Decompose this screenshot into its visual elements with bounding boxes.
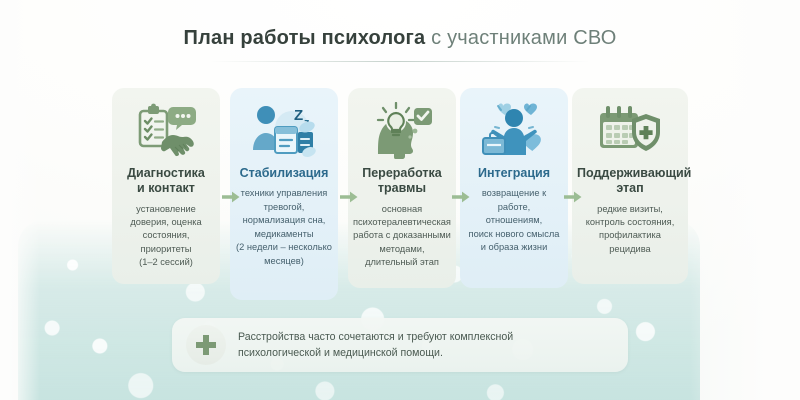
stage-card-title: Интеграция — [465, 166, 563, 181]
clipboard-checklist-handshake-icon — [117, 100, 215, 162]
head-lightbulb-check-icon — [353, 100, 451, 162]
stage-card-body: техники управления тревогой, нормализаци… — [235, 187, 333, 268]
stage-cards-row: Диагностика и контакт установление довер… — [112, 88, 700, 300]
person-hearts-briefcase-icon — [465, 100, 563, 162]
calendar-shield-cross-icon — [577, 100, 683, 162]
stage-card-body: редкие визиты, контроль состояния, профи… — [577, 203, 683, 257]
stage-card-body: основная психотералевтическая работа с д… — [353, 203, 451, 270]
stage-card-stabilizatsiya[interactable]: Z z Стабилизация — [230, 88, 338, 300]
arrow-right-icon — [564, 190, 582, 204]
stage-card-body: установление доверия, оценка состояния, … — [117, 203, 215, 270]
medical-cross-icon — [186, 325, 226, 365]
footer-note-text: Расстройства часто сочетаются и требуют … — [238, 329, 513, 362]
page-title-light: с участниками СВО — [431, 27, 616, 49]
stage-card-pererabotka-travmy[interactable]: Переработка травмы основная психотералев… — [348, 88, 456, 288]
stage-card-podderzhivayushchiy-etap[interactable]: Поддерживающий этап редкие визиты, контр… — [572, 88, 688, 284]
page-title: План работы психолога с участниками СВО — [0, 27, 800, 62]
arrow-right-icon — [452, 190, 470, 204]
arrow-right-icon — [340, 190, 358, 204]
stage-card-title: Поддерживающий этап — [577, 166, 683, 197]
stage-card-body: возвращение к работе, отношениям, поиск … — [465, 187, 563, 254]
svg-text:Z: Z — [294, 107, 303, 124]
stage-card-title: Стабилизация — [235, 166, 333, 181]
footer-note-banner: Расстройства часто сочетаются и требуют … — [172, 318, 628, 372]
arrow-right-icon — [222, 190, 240, 204]
stage-card-title: Переработка травмы — [353, 166, 451, 197]
infographic-canvas: План работы психолога с участниками СВО — [0, 0, 800, 400]
page-title-strong: План работы психолога — [184, 27, 426, 49]
person-sleep-medication-icon: Z z — [235, 100, 333, 162]
stage-card-title: Диагностика и контакт — [117, 166, 215, 197]
title-divider — [210, 61, 590, 62]
stage-card-integratsiya[interactable]: Интеграция возвращение к работе, отношен… — [460, 88, 568, 288]
stage-card-diagnostika[interactable]: Диагностика и контакт установление довер… — [112, 88, 220, 284]
